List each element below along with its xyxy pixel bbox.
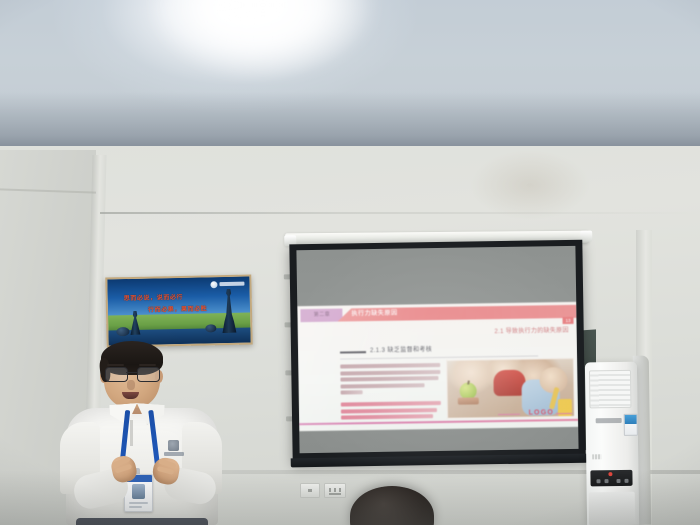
slide-header-title: 执行力缺失原因 [351,310,397,320]
wall-seam [100,212,700,214]
slide-footer-logo: LOGO [529,408,555,417]
ac-energy-label [624,414,638,436]
projector-screen: 第二章 执行力缺失原因 13 2.1 导致执行力的缺失原因 2.1.3 缺乏监督… [289,230,590,471]
slide-section-subtitle: 2.1 导致执行力的缺失原因 [494,327,568,337]
wall-stain [470,150,590,220]
wall-poster: 思而必说，说而必行 行而必果，果而必胜 [105,274,252,347]
glasses-lens-right [137,367,160,382]
slide-body-text [340,363,441,422]
presenter-nose [127,380,135,390]
brand-wordmark [219,282,244,287]
slide-sub-heading: 2.1.3 缺乏监督和考核 [370,346,432,356]
polo-placket [130,420,133,446]
ac-air-grille [589,370,632,409]
slide-chapter-label: 第二章 [305,311,338,320]
poster-line-1: 思而必说，说而必行 [124,292,184,302]
poster-brand-logo [210,280,244,289]
shirt-chest-wordmark [164,452,184,456]
ceiling-light-icon [148,0,378,80]
glasses-icon [104,367,160,380]
floor-shadow [0,470,700,525]
slide-heading-rule [340,351,366,353]
projected-slide: 第二章 执行力缺失原因 13 2.1 导致执行力的缺失原因 2.1.3 缺乏监督… [297,302,578,431]
ceiling [0,0,700,150]
screen-surface: 第二章 执行力缺失原因 13 2.1 导致执行力的缺失原因 2.1.3 缺乏监督… [296,246,578,453]
slide-page-number: 13 [563,317,572,324]
slide-classroom-photo [446,358,575,419]
poster-line-2: 行而必果，果而必胜 [148,303,208,313]
brand-mark-icon [210,281,217,288]
ac-vent-icon [592,454,601,459]
room-photo-scene: 思而必说，说而必行 行而必果，果而必胜 第二章 [0,0,700,525]
photo-glare [447,359,574,418]
ceiling-shadow [0,92,700,150]
ac-brand-logo [596,418,622,423]
screen-frame: 第二章 执行力缺失原因 13 2.1 导致执行力的缺失原因 2.1.3 缺乏监督… [289,240,585,463]
glasses-lens-left [105,367,128,382]
slide-header-band: 第二章 执行力缺失原因 [297,305,576,322]
shirt-chest-logo-icon [168,440,179,451]
